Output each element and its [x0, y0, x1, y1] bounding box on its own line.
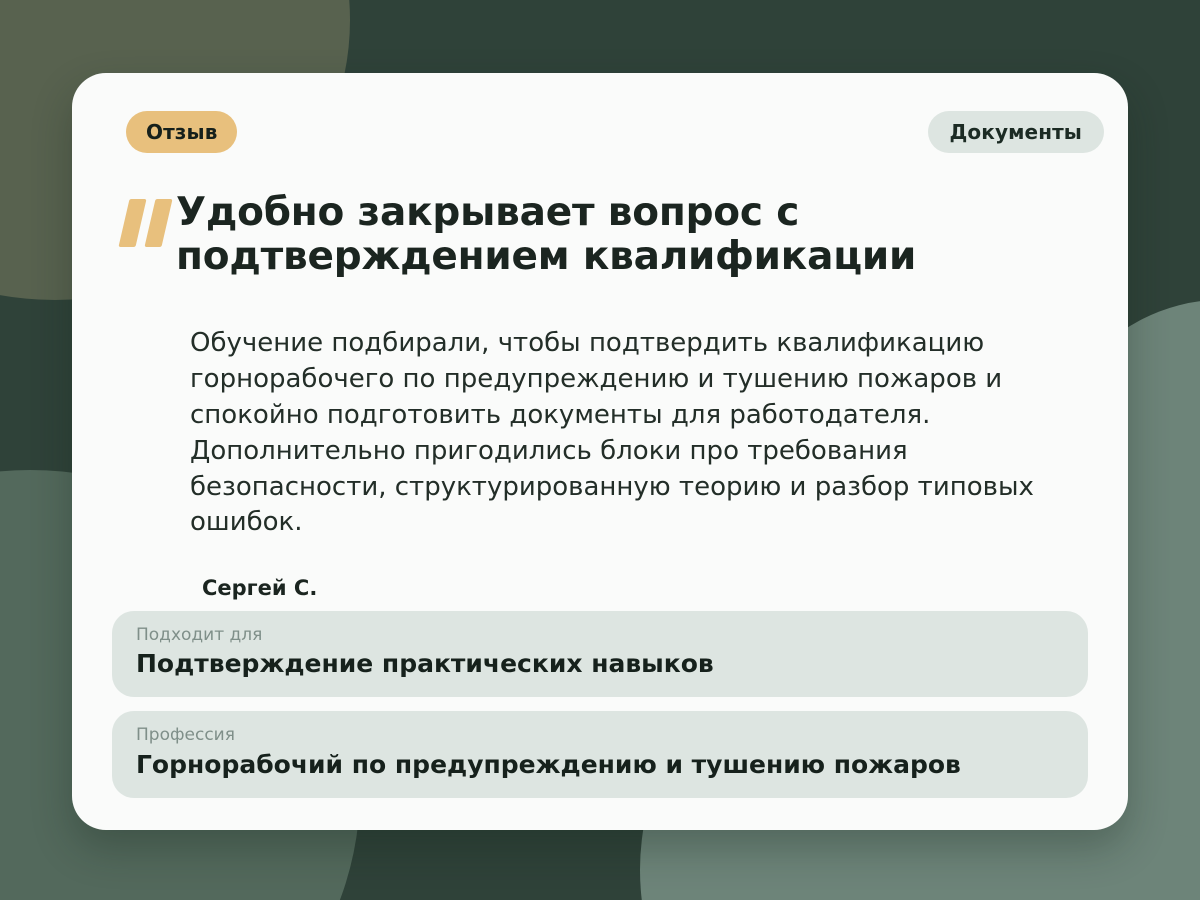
info-card-profession: Профессия Горнорабочий по предупреждению… — [112, 711, 1088, 797]
info-card-suitable-for: Подходит для Подтверждение практических … — [112, 611, 1088, 697]
info-card-label: Подходит для — [136, 625, 1064, 645]
review-body: Обучение подбирали, чтобы подтвердить кв… — [190, 326, 1090, 541]
review-author-name: Сергей С. — [202, 576, 317, 600]
info-card-value: Горнорабочий по предупреждению и тушению… — [136, 750, 1064, 780]
badge-kind[interactable]: Отзыв — [126, 111, 237, 153]
info-card-value: Подтверждение практических навыков — [136, 649, 1064, 679]
badge-row: Отзыв Документы — [72, 111, 1128, 157]
headline-block: Удобно закрывает вопрос с подтверждением… — [120, 191, 1082, 278]
info-card-list: Подходит для Подтверждение практических … — [112, 611, 1088, 812]
review-card: Отзыв Документы Удобно закрывает вопрос … — [72, 73, 1128, 830]
review-headline: Удобно закрывает вопрос с подтверждением… — [176, 191, 986, 278]
info-card-label: Профессия — [136, 725, 1064, 745]
badge-topic[interactable]: Документы — [928, 111, 1104, 153]
review-card-stage: Отзыв Документы Удобно закрывает вопрос … — [0, 0, 1200, 900]
quote-mark-icon — [120, 199, 176, 251]
